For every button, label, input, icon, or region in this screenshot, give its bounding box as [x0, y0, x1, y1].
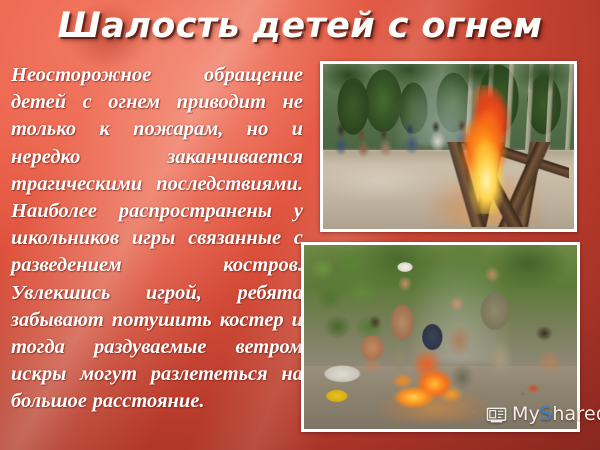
myshared-watermark[interactable]: MyShared: [486, 405, 600, 424]
bottom-photo-flames: [386, 344, 479, 418]
watermark-prefix: My: [512, 403, 540, 425]
slide-body-text: Неосторожное обращение детей с огнем при…: [11, 62, 303, 416]
top-photo-flames: [449, 85, 524, 214]
slide-title: Шалость детей с огнем: [0, 6, 600, 46]
myshared-watermark-label: MyShared: [512, 405, 600, 424]
watermark-suffix: hared: [552, 403, 600, 425]
myshared-projector-icon: [486, 405, 507, 424]
presentation-slide: Шалость детей с огнем Неосторожное обращ…: [0, 0, 600, 450]
photo-teens-bonfire-beach: [320, 61, 577, 232]
watermark-accent: S: [540, 403, 552, 425]
